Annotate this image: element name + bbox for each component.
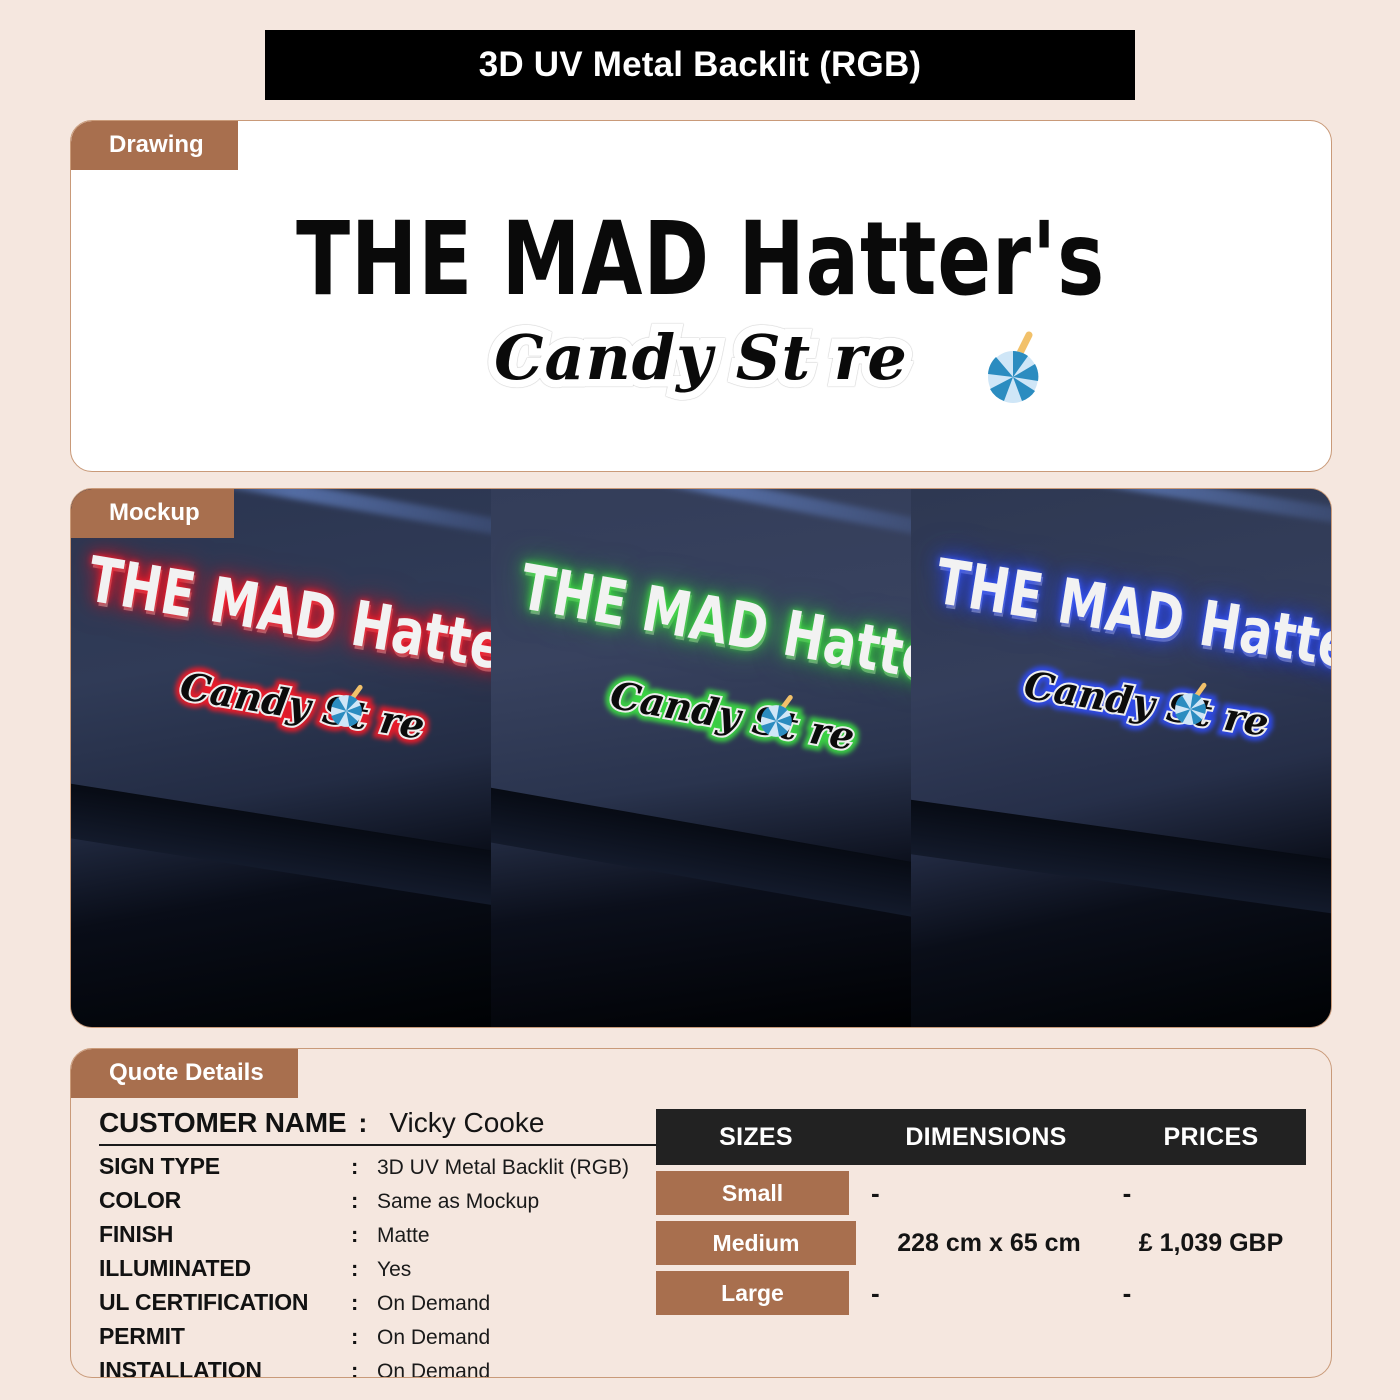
spec-row-color: COLOR : Same as Mockup: [99, 1187, 679, 1214]
column-header-sizes: SIZES: [656, 1123, 856, 1152]
mockup-panel-green: THE MAD Hatter's Candy St re Candy St re: [491, 489, 911, 1027]
spec-value: On Demand: [377, 1292, 490, 1316]
drawing-artwork: THE MAD Hatter's Candy St re Candy St re: [71, 121, 1331, 471]
dimensions-value: -: [849, 1178, 1101, 1209]
spec-colon: :: [351, 1358, 377, 1378]
mockup-tab-label: Mockup: [71, 489, 234, 538]
spec-row-sign-type: SIGN TYPE : 3D UV Metal Backlit (RGB): [99, 1153, 679, 1180]
table-row: Large - -: [656, 1271, 1306, 1315]
spec-label: SIGN TYPE: [99, 1153, 351, 1180]
quote-details-card: Quote Details CUSTOMER NAME : Vicky Cook…: [70, 1048, 1332, 1378]
mockup-panel-blue: THE MAD Hatter's Candy St re Candy St re: [911, 489, 1331, 1027]
logo-line1: THE MAD Hatter's: [297, 209, 1106, 310]
logo-line2-wrap: Candy St re Candy St re: [494, 321, 908, 394]
spec-colon: :: [351, 1256, 377, 1282]
quote-details-tab-label: Quote Details: [71, 1049, 298, 1098]
pricing-table-header: SIZES DIMENSIONS PRICES: [656, 1109, 1306, 1165]
spec-row-finish: FINISH : Matte: [99, 1221, 679, 1248]
spec-colon: :: [351, 1154, 377, 1180]
spec-row-illuminated: ILLUMINATED : Yes: [99, 1255, 679, 1282]
page-title: 3D UV Metal Backlit (RGB): [479, 45, 922, 85]
price-value: £ 1,039 GBP: [1116, 1229, 1306, 1258]
size-badge-large: Large: [656, 1271, 849, 1315]
lollipop-icon: [983, 327, 1055, 405]
customer-name-row: CUSTOMER NAME : Vicky Cooke: [99, 1107, 679, 1146]
spec-label: COLOR: [99, 1187, 351, 1214]
mockup-panel-red: THE MAD Hatter's Candy St re Candy St re: [71, 489, 491, 1027]
column-header-dimensions: DIMENSIONS: [856, 1123, 1116, 1152]
customer-name-colon: :: [358, 1108, 367, 1139]
price-value: -: [1101, 1278, 1306, 1309]
customer-name-value: Vicky Cooke: [389, 1107, 544, 1139]
spec-value: Matte: [377, 1224, 430, 1248]
spec-value: Same as Mockup: [377, 1190, 539, 1214]
spec-label: PERMIT: [99, 1323, 351, 1350]
pricing-table: SIZES DIMENSIONS PRICES Small - - Medium…: [656, 1109, 1306, 1315]
spec-label: ILLUMINATED: [99, 1255, 351, 1282]
quote-spec-list: CUSTOMER NAME : Vicky Cooke SIGN TYPE : …: [99, 1107, 679, 1378]
spec-value: On Demand: [377, 1360, 490, 1378]
spec-row-ul-certification: UL CERTIFICATION : On Demand: [99, 1289, 679, 1316]
dimensions-value: -: [849, 1278, 1101, 1309]
size-badge-medium: Medium: [656, 1221, 856, 1265]
dimensions-value: 228 cm x 65 cm: [856, 1229, 1116, 1258]
spec-colon: :: [351, 1188, 377, 1214]
spec-colon: :: [351, 1290, 377, 1316]
spec-label: UL CERTIFICATION: [99, 1289, 351, 1316]
spec-value: Yes: [377, 1258, 411, 1282]
size-badge-small: Small: [656, 1171, 849, 1215]
column-header-prices: PRICES: [1116, 1123, 1306, 1152]
table-row: Small - -: [656, 1171, 1306, 1215]
page-header-bar: 3D UV Metal Backlit (RGB): [265, 30, 1135, 100]
mockup-gallery: THE MAD Hatter's Candy St re Candy St re…: [71, 489, 1331, 1027]
logo-line2: Candy St re: [494, 321, 908, 394]
drawing-tab-label: Drawing: [71, 121, 238, 170]
spec-label: FINISH: [99, 1221, 351, 1248]
customer-name-label: CUSTOMER NAME: [99, 1107, 346, 1139]
spec-label: INSTALLATION: [99, 1357, 351, 1378]
price-value: -: [1101, 1178, 1306, 1209]
spec-value: On Demand: [377, 1326, 490, 1350]
spec-row-installation: INSTALLATION : On Demand: [99, 1357, 679, 1378]
spec-colon: :: [351, 1324, 377, 1350]
drawing-card: Drawing THE MAD Hatter's Candy St re Can…: [70, 120, 1332, 472]
mockup-card: Mockup THE MAD Hatter's Candy St re Cand…: [70, 488, 1332, 1028]
spec-colon: :: [351, 1222, 377, 1248]
spec-value: 3D UV Metal Backlit (RGB): [377, 1156, 629, 1180]
spec-row-permit: PERMIT : On Demand: [99, 1323, 679, 1350]
table-row: Medium 228 cm x 65 cm £ 1,039 GBP: [656, 1221, 1306, 1265]
